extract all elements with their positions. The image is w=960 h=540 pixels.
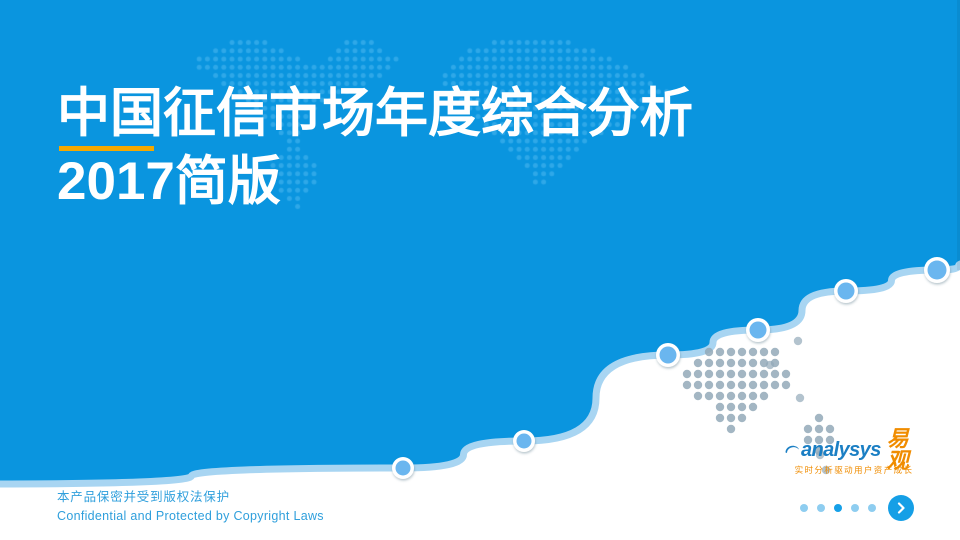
cloud-swoosh-icon bbox=[784, 442, 800, 458]
chart-node-4 bbox=[746, 318, 770, 342]
pager-dot-1[interactable] bbox=[800, 504, 808, 512]
title-block: 中国征信市场年度综合分析 2017简版 bbox=[57, 85, 757, 211]
next-slide-button[interactable] bbox=[888, 495, 914, 521]
logo-tagline: 实时分析驱动用户资产成长 bbox=[784, 464, 924, 476]
chevron-right-icon bbox=[894, 501, 908, 515]
copyright-english: Confidential and Protected by Copyright … bbox=[57, 507, 324, 526]
analysys-logo: analysys 易观 实时分析驱动用户资产成长 bbox=[784, 437, 924, 476]
logo-row: analysys 易观 bbox=[784, 437, 924, 463]
slide-root: 中国征信市场年度综合分析 2017简版 本产品保密并受到版权法保护 Confid… bbox=[0, 0, 960, 540]
chart-node-3 bbox=[656, 343, 680, 367]
page-title-line-1: 中国征信市场年度综合分析 bbox=[57, 85, 757, 143]
chart-node-1 bbox=[392, 457, 414, 479]
logo-wordmark: analysys bbox=[801, 440, 881, 460]
pager-dot-3[interactable] bbox=[834, 504, 842, 512]
pagination-controls[interactable] bbox=[800, 494, 914, 522]
chart-node-2 bbox=[513, 430, 535, 452]
pager-dot-4[interactable] bbox=[851, 504, 859, 512]
chart-node-6 bbox=[924, 257, 950, 283]
page-title-line-2: 2017简版 bbox=[57, 153, 757, 211]
copyright-chinese: 本产品保密并受到版权法保护 bbox=[57, 488, 324, 507]
title-accent-rule bbox=[59, 146, 154, 151]
chart-node-5 bbox=[834, 279, 858, 303]
pager-dot-2[interactable] bbox=[817, 504, 825, 512]
copyright-notice: 本产品保密并受到版权法保护 Confidential and Protected… bbox=[57, 488, 324, 526]
pager-dot-5[interactable] bbox=[868, 504, 876, 512]
